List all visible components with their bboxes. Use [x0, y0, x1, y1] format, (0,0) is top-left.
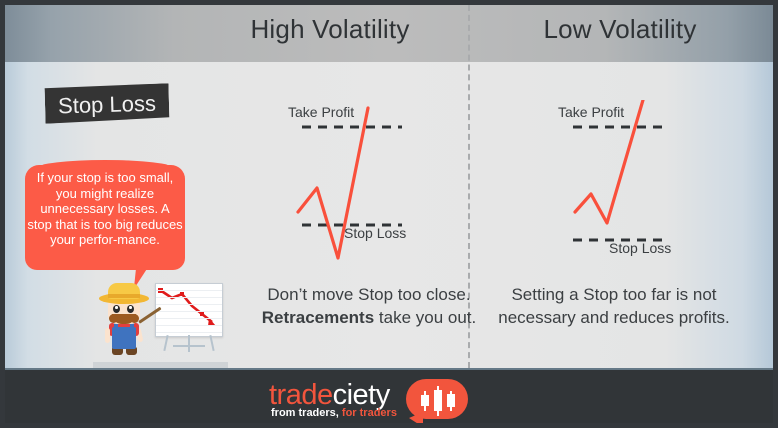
presenter-eye-left: [113, 305, 120, 313]
whiteboard: [155, 283, 223, 337]
speech-bubble-text: If your stop is too small, you might rea…: [27, 170, 183, 248]
candlestick-icon: [419, 385, 459, 417]
presenter-strap-left: [114, 323, 118, 330]
caption-high-emphasis: Retracements: [262, 308, 374, 327]
presenter-arm-left: [105, 328, 110, 343]
take-profit-label: Take Profit: [558, 104, 624, 120]
take-profit-label: Take Profit: [288, 104, 354, 120]
caption-low-volatility: Setting a Stop too far is not necessary …: [494, 283, 734, 329]
presenter-eye-right: [127, 305, 134, 313]
stop-loss-label: Stop Loss: [609, 240, 671, 256]
infographic-canvas: High Volatility Low Volatility Stop Loss…: [5, 5, 773, 423]
footer-top-rule: [5, 368, 773, 370]
presenter-illustration: [93, 281, 228, 368]
stop-loss-label: Stop Loss: [344, 225, 406, 241]
infographic-page: High Volatility Low Volatility Stop Loss…: [0, 0, 778, 428]
logo-tagline: from traders, for traders: [271, 407, 397, 419]
caption-high-volatility: Don’t move Stop too close. Retracements …: [249, 283, 489, 329]
header-bar: High Volatility Low Volatility: [5, 5, 773, 62]
whiteboard-ruled-lines: [156, 284, 222, 336]
whiteboard-leg-center: [188, 335, 190, 352]
chart-low-volatility: Take Profit Stop Loss: [525, 100, 745, 270]
chart-high-volatility: Take Profit Stop Loss: [260, 100, 480, 270]
chart-high-volatility-svg: [260, 100, 480, 270]
caption-high-text-after: take you out.: [374, 308, 476, 327]
presenter-overalls: [112, 327, 136, 349]
tradeciety-logo[interactable]: tradeciety from traders, for traders: [269, 381, 519, 421]
column-title-high-volatility: High Volatility: [195, 14, 465, 45]
stop-loss-badge-label: Stop Loss: [45, 88, 170, 121]
caption-high-text-before: Don’t move Stop too close.: [267, 285, 470, 304]
column-title-low-volatility: Low Volatility: [485, 14, 755, 45]
presenter-hat-band: [108, 294, 140, 298]
whiteboard-cross-bar: [173, 345, 205, 347]
logo-tagline-part-1: from traders,: [271, 407, 339, 419]
presenter-strap-right: [130, 323, 134, 330]
logo-tagline-part-2: for traders: [339, 407, 397, 419]
